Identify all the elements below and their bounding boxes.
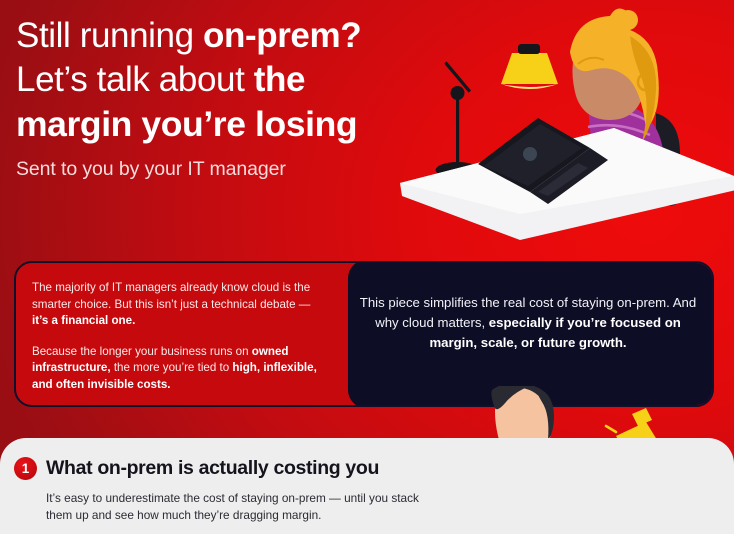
section-one-panel: 1 What on-prem is actually costing you I… [0,438,734,534]
headline-line-2-bold: the [254,60,305,99]
section-one-title: What on-prem is actually costing you [46,457,379,480]
infographic-page: Still running on-prem? Let’s talk about … [0,0,734,534]
hero-subtitle: Sent to you by your IT manager [16,156,436,182]
left-card-paragraph-2: Because the longer your business runs on… [32,344,320,394]
right-card-paragraph: This piece simplifies the real cost of s… [352,293,704,353]
headline-line-2-plain: Let’s talk about [16,60,254,99]
left-card-p2-plain-b: the more you’re tied to [111,361,233,374]
section-one-body-text: It’s easy to underestimate the cost of s… [46,490,446,523]
hero-section: Still running on-prem? Let’s talk about … [16,14,436,182]
headline-line-3: margin you’re losing [16,102,436,146]
left-card-p2-plain-a: Because the longer your business runs on [32,345,252,358]
left-card-p1-bold: it’s a financial one. [32,314,135,327]
section-number-badge: 1 [14,457,37,480]
left-intro-card: The majority of IT managers already know… [32,280,320,394]
headline-line-1: Still running on-prem? [16,14,436,58]
section-one-header: 1 What on-prem is actually costing you [14,457,379,480]
right-intro-card: This piece simplifies the real cost of s… [352,293,704,353]
section-one-body: It’s easy to underestimate the cost of s… [46,490,446,523]
headline-line-2: Let’s talk about the [16,58,436,102]
left-card-p1-plain: The majority of IT managers already know… [32,281,310,311]
headline-line-1-bold: on-prem? [203,16,361,55]
headline-line-1-plain: Still running [16,16,203,55]
left-card-paragraph-1: The majority of IT managers already know… [32,280,320,330]
hero-illustration-woman-at-desk [392,8,734,240]
